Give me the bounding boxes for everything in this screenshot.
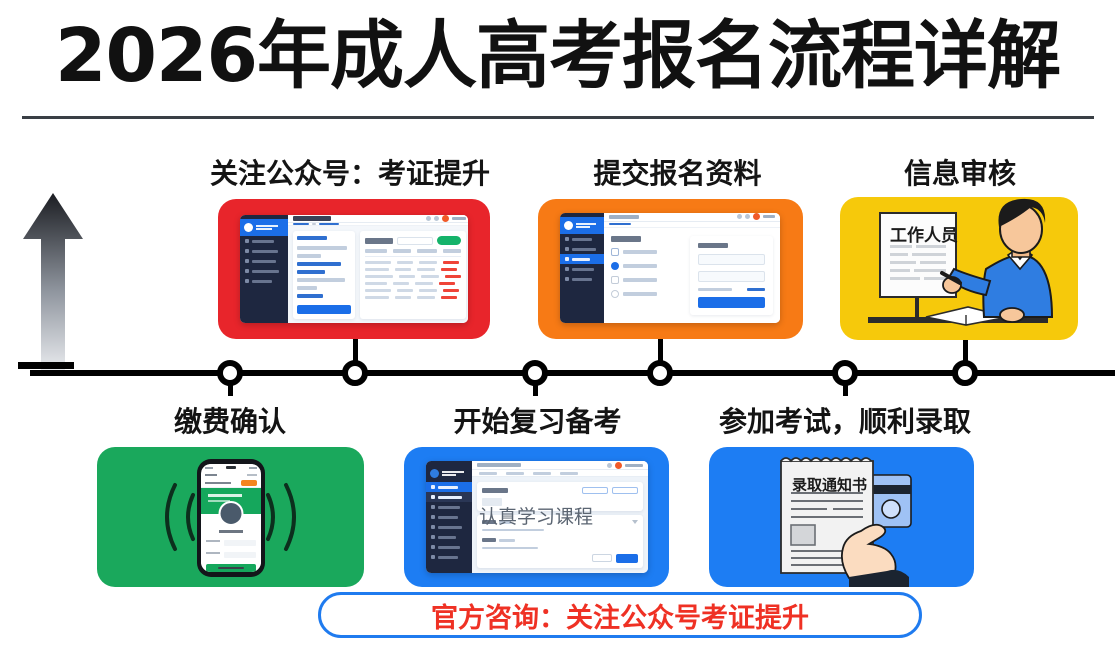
timeline-node-2[interactable] <box>342 360 368 386</box>
step-card-exam-admission[interactable]: 录取通知书 <box>709 447 974 587</box>
sign-label-staff: 工作人员 <box>890 221 958 246</box>
step-card-start-study[interactable]: 认真学习课程 <box>404 447 669 587</box>
admission-letter-illustration <box>709 447 974 587</box>
step-label-start-study: 开始复习备考 <box>410 400 665 440</box>
step-card-payment-confirm[interactable] <box>97 447 364 587</box>
step-label-payment-confirm: 缴费确认 <box>105 400 355 440</box>
overlay-label-study: 认真学习课程 <box>479 502 593 529</box>
timeline-node-4[interactable] <box>647 360 673 386</box>
timeline-node-1[interactable] <box>217 360 243 386</box>
step-label-submit-materials: 提交报名资料 <box>545 152 810 192</box>
staff-reviewing-illustration <box>840 197 1078 340</box>
document-title-admission: 录取通知书 <box>792 474 867 495</box>
dashboard-list-screenshot <box>240 215 468 323</box>
step-label-follow-account: 关注公众号：考证提升 <box>150 152 550 192</box>
phone-device <box>197 459 265 577</box>
step-label-info-review: 信息审核 <box>840 152 1080 192</box>
timeline-node-3[interactable] <box>522 360 548 386</box>
form-submit-screenshot <box>560 213 780 323</box>
arrow-baseline <box>18 362 74 369</box>
title-divider <box>22 116 1094 119</box>
page-title: 2026年成人高考报名流程详解 <box>0 8 1115 104</box>
timeline-node-5[interactable] <box>832 360 858 386</box>
timeline-node-6[interactable] <box>952 360 978 386</box>
step-card-submit-materials[interactable] <box>538 199 803 339</box>
cta-label: 官方咨询：关注公众号考证提升 <box>431 596 809 635</box>
cta-banner[interactable]: 官方咨询：关注公众号考证提升 <box>318 592 922 638</box>
step-card-follow-account[interactable] <box>218 199 490 339</box>
step-label-exam-admission: 参加考试，顺利录取 <box>690 400 1000 440</box>
up-arrow-icon <box>22 193 84 371</box>
step-card-info-review[interactable]: 工作人员 <box>840 197 1078 340</box>
